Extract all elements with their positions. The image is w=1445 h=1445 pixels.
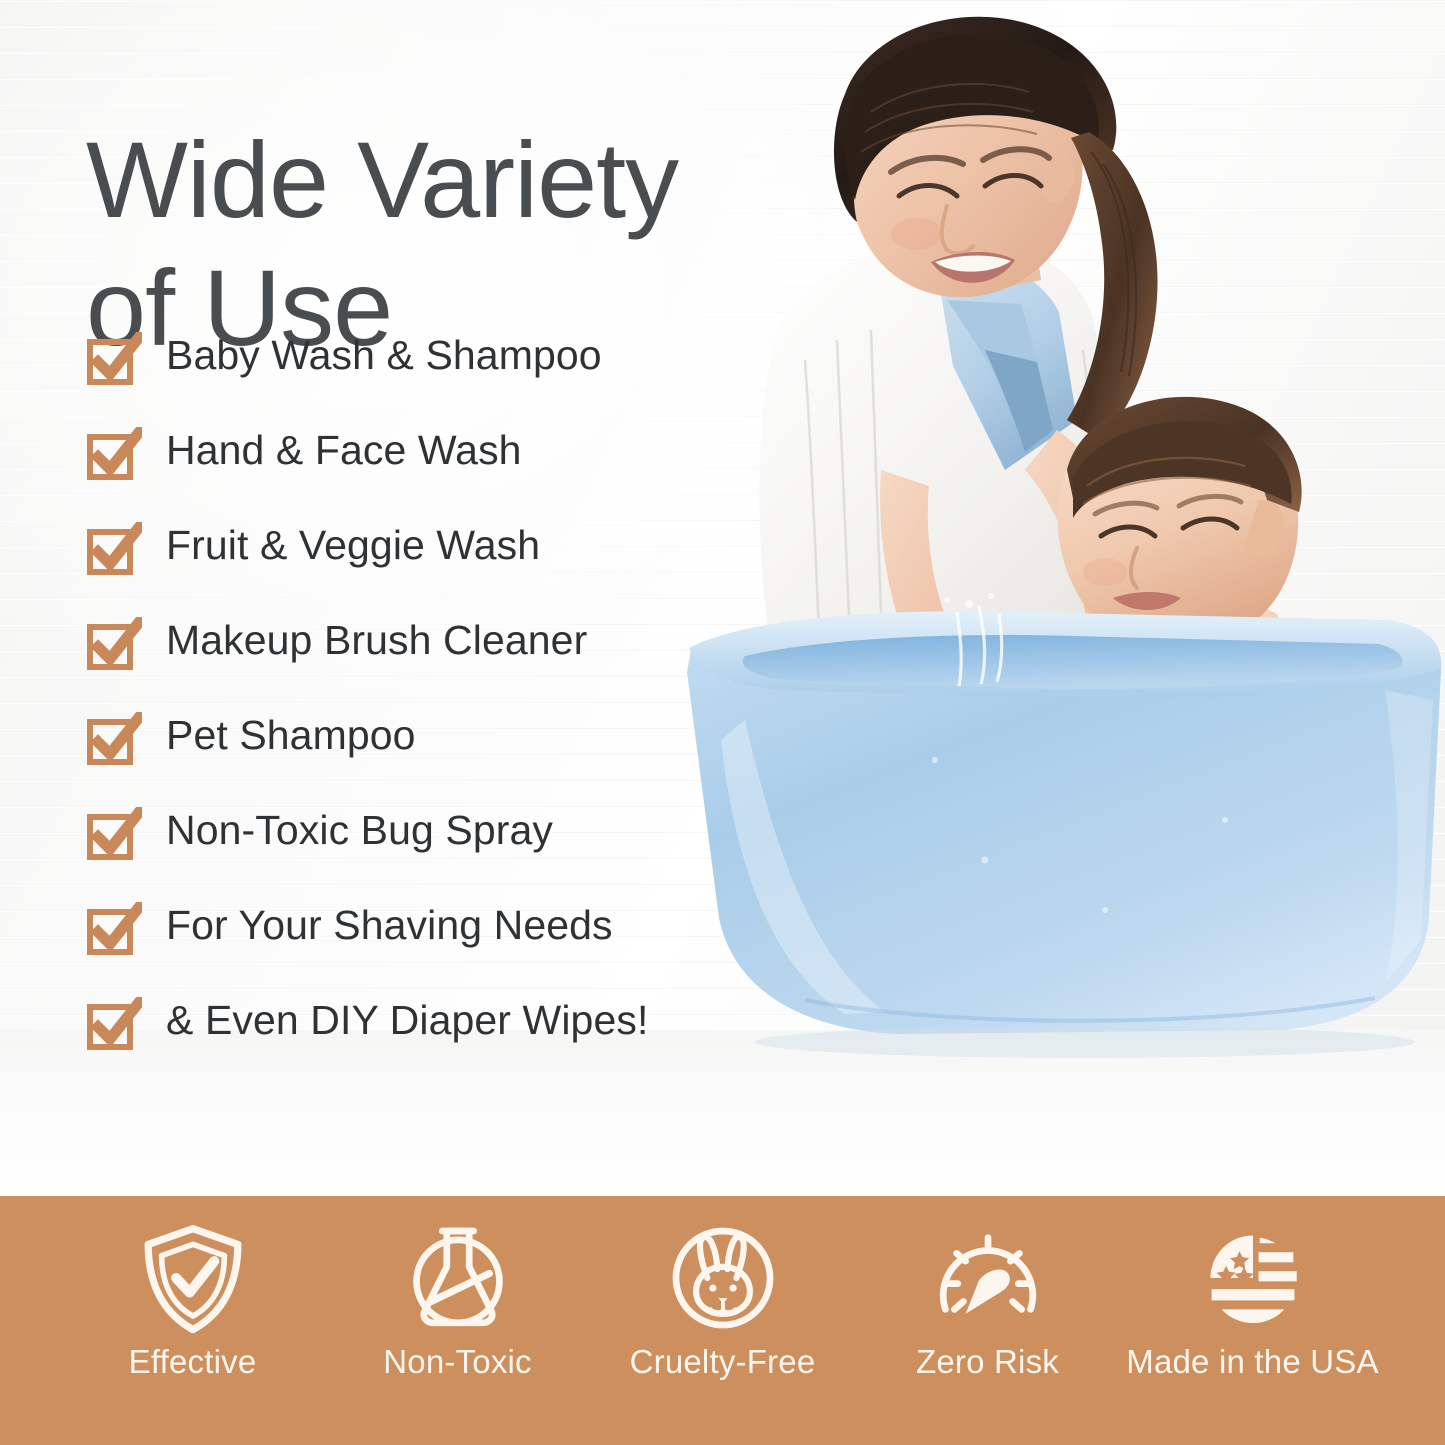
trust-badge-label: Effective [129,1344,257,1381]
list-item: For Your Shaving Needs [86,896,746,991]
trust-badge-label: Cruelty-Free [630,1344,816,1381]
list-item: Fruit & Veggie Wash [86,516,746,611]
list-item-label: Baby Wash & Shampoo [166,326,602,384]
checkbox-checked-icon [86,427,142,483]
trust-badge-label: Made in the USA [1126,1344,1378,1381]
checkbox-checked-icon [86,332,142,388]
list-item: Pet Shampoo [86,706,746,801]
no-flask-icon [402,1222,514,1334]
checkbox-checked-icon [86,807,142,863]
list-item-label: For Your Shaving Needs [166,896,613,954]
usa-flag-circle-icon [1197,1222,1309,1334]
checkbox-checked-icon [86,997,142,1053]
list-item: Non-Toxic Bug Spray [86,801,746,896]
shield-check-icon [137,1222,249,1334]
infographic-page: Wide Variety of Use Baby Wash & Shampoo … [0,0,1445,1445]
trust-badge-effective: Effective [60,1222,325,1381]
trust-badge-label: Non-Toxic [383,1344,532,1381]
trust-badge-bar: Effective Non-Toxic [0,1196,1445,1445]
list-item: Hand & Face Wash [86,421,746,516]
product-lifestyle-photo [685,0,1445,1200]
list-item-label: Makeup Brush Cleaner [166,611,587,669]
list-item: & Even DIY Diaper Wipes! [86,991,746,1086]
trust-badge-label: Zero Risk [916,1344,1059,1381]
trust-badge-cruelty-free: Cruelty-Free [590,1222,855,1381]
list-item-label: Fruit & Veggie Wash [166,516,540,574]
use-cases-checklist: Baby Wash & Shampoo Hand & Face Wash Fru… [86,326,746,1086]
list-item-label: Pet Shampoo [166,706,416,764]
gauge-icon [932,1222,1044,1334]
trust-badge-zero-risk: Zero Risk [855,1222,1120,1381]
checkbox-checked-icon [86,712,142,768]
list-item-label: Non-Toxic Bug Spray [166,801,553,859]
photo-illustration [685,0,1445,1200]
checkbox-checked-icon [86,617,142,673]
trust-badge-list: Effective Non-Toxic [0,1196,1445,1445]
list-item: Makeup Brush Cleaner [86,611,746,706]
list-item: Baby Wash & Shampoo [86,326,746,421]
rabbit-circle-icon [667,1222,779,1334]
checkbox-checked-icon [86,522,142,578]
list-item-label: & Even DIY Diaper Wipes! [166,991,648,1049]
trust-badge-non-toxic: Non-Toxic [325,1222,590,1381]
checkbox-checked-icon [86,902,142,958]
list-item-label: Hand & Face Wash [166,421,522,479]
trust-badge-made-in-usa: Made in the USA [1120,1222,1385,1381]
